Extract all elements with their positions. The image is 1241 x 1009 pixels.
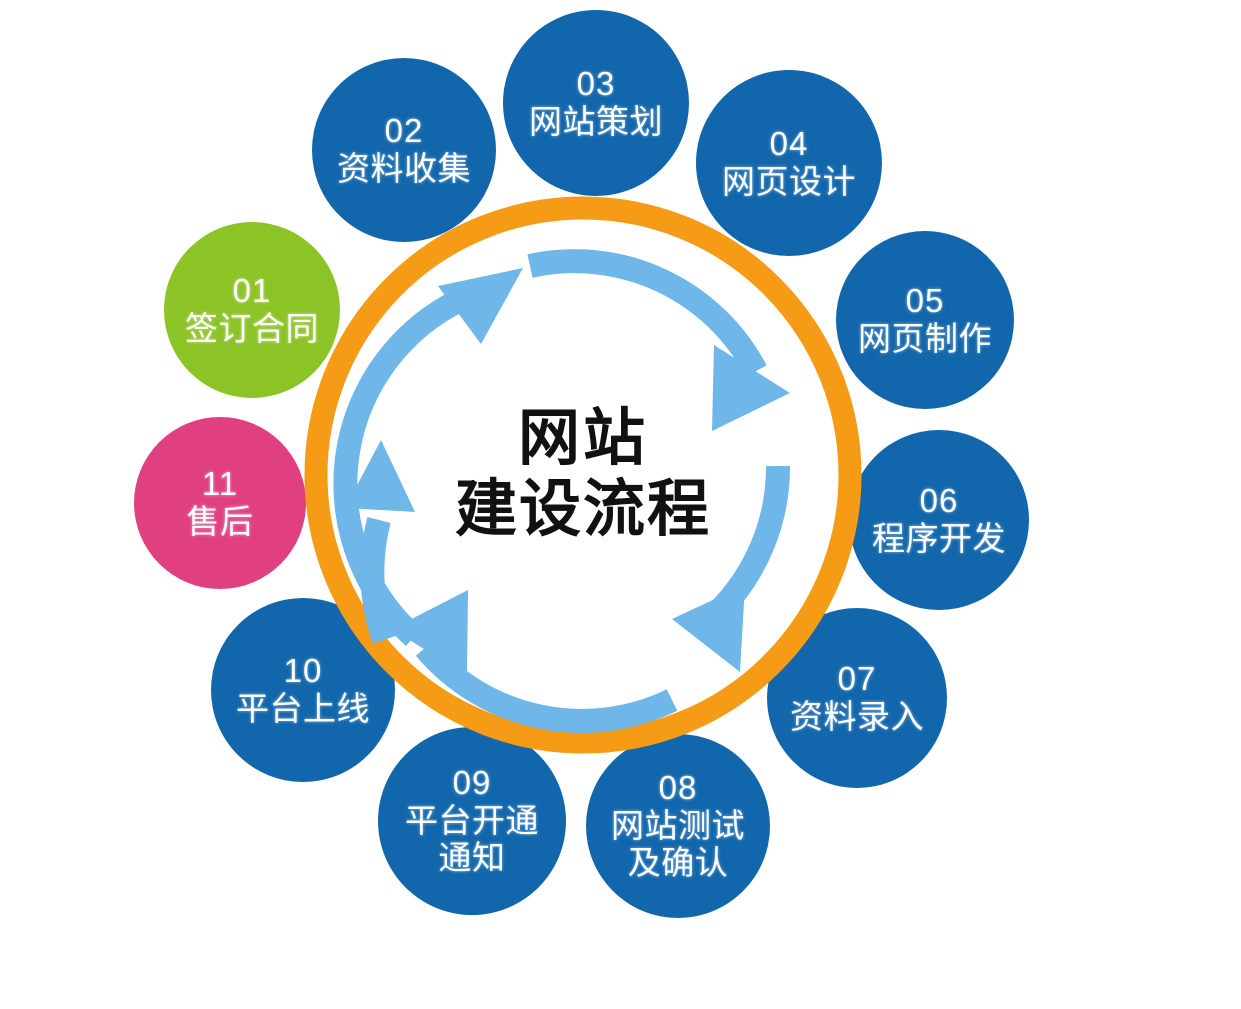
process-ring-graphic: [0, 0, 1241, 1009]
diagram-canvas: 01签订合同02资料收集03网站策划04网页设计05网页制作06程序开发07资料…: [0, 0, 1241, 1009]
